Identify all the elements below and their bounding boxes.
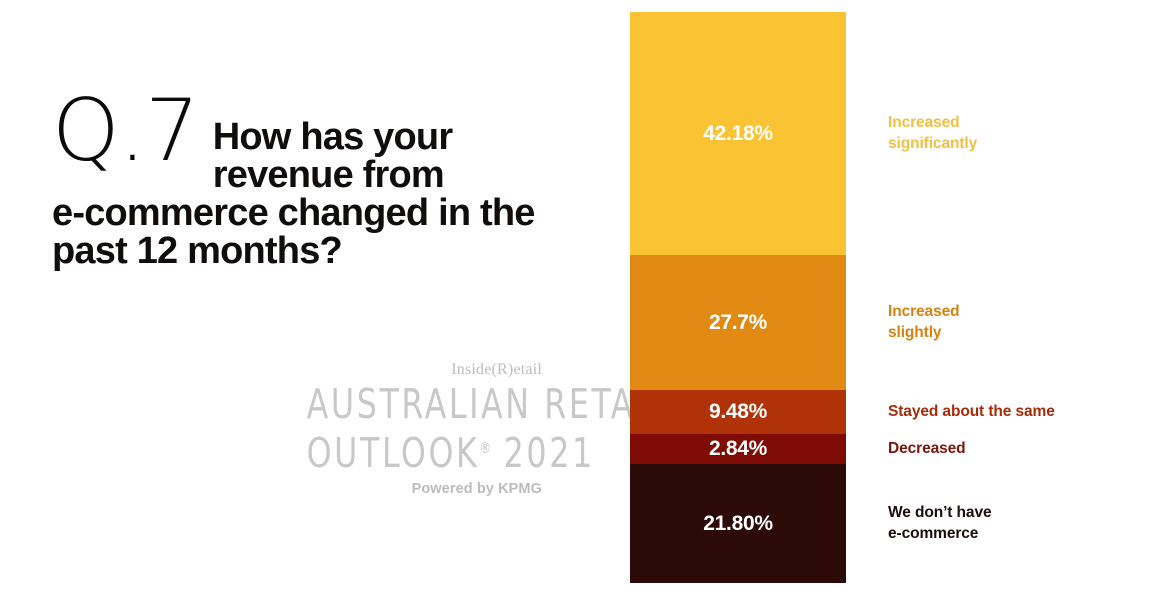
bar-segment-value: 21.80%: [703, 512, 772, 536]
logo-outlook-word: OUTLOOK: [307, 429, 480, 477]
stacked-bar-chart: 42.18%27.7%9.48%2.84%21.80%: [630, 12, 846, 583]
logo-year: 2021: [504, 429, 595, 477]
legend-item: We don’t have e-commerce: [888, 503, 991, 544]
report-logo: Inside(R)etail AUSTRALIAN RETAIL OUTLOOK…: [268, 362, 544, 497]
logo-title-line-1: AUSTRALIAN RETAIL: [307, 382, 544, 426]
bar-segment: 42.18%: [630, 12, 846, 255]
question-line-3: e-commerce changed in the: [52, 194, 582, 232]
logo-brand-inside-retail: Inside(R)etail: [268, 362, 544, 378]
legend-item: Increased significantly: [888, 113, 977, 154]
bar-segment: 9.48%: [630, 390, 846, 434]
bar-segment: 27.7%: [630, 255, 846, 390]
question-number: Q.7: [52, 102, 199, 160]
legend-item: Stayed about the same: [888, 402, 1055, 423]
bar-segment: 2.84%: [630, 434, 846, 464]
logo-powered-by-kpmg: Powered by KPMG: [268, 481, 544, 497]
bar-segment-value: 27.7%: [709, 311, 767, 335]
question-block: Q.7 How has your revenue from e-commerce…: [52, 116, 582, 270]
registered-trademark-icon: ®: [479, 439, 491, 457]
question-line-4: past 12 months?: [52, 232, 582, 270]
page-title: Q.7 How has your revenue from e-commerce…: [52, 116, 582, 270]
logo-title-line-2: OUTLOOK® 2021: [307, 426, 544, 475]
bar-segment: 21.80%: [630, 464, 846, 583]
legend-item: Decreased: [888, 439, 966, 460]
chart-legend: Increased significantlyIncreased slightl…: [888, 12, 1156, 583]
bar-segment-value: 42.18%: [703, 122, 772, 146]
legend-item: Increased slightly: [888, 302, 959, 343]
bar-segment-value: 9.48%: [709, 400, 767, 424]
bar-segment-value: 2.84%: [709, 437, 767, 461]
